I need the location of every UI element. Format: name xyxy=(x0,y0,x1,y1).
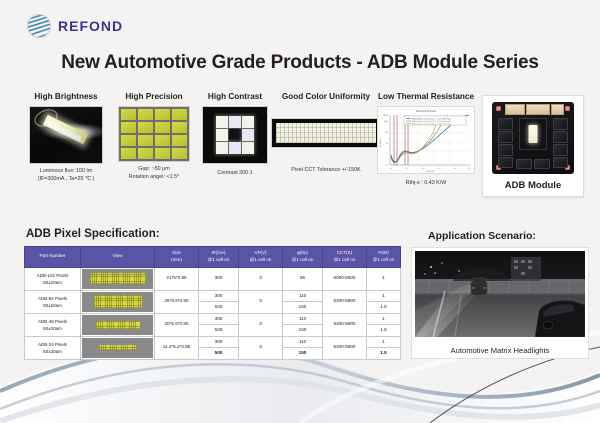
feature-heading: High Precision xyxy=(106,92,202,101)
cell-view xyxy=(81,290,155,313)
cell-view xyxy=(81,313,155,336)
adb-module-card: ADB Module xyxy=(482,95,584,197)
brand-logo: REFOND xyxy=(26,13,123,39)
spec-section-heading: ADB Pixel Specification: xyxy=(26,228,160,240)
cell-size: 11.4*5.2*0.85 xyxy=(155,336,199,359)
cell-if: 500 xyxy=(199,325,239,337)
application-card: Automotive Matrix Headlights xyxy=(411,247,589,359)
cell-flux: 85 xyxy=(283,267,323,290)
cell-part-number: ADB-84 Pixels 50±20am xyxy=(25,290,81,313)
cell-if: 300 xyxy=(199,267,239,290)
svg-text:0.4: 0.4 xyxy=(454,168,457,170)
cell-flux: 110 xyxy=(283,313,323,325)
svg-text:0.1: 0.1 xyxy=(406,168,409,170)
table-row: ADB-102 Pixels 50±20am 21*5*0.85 300 3 8… xyxy=(25,267,401,290)
application-caption: Automotive Matrix Headlights xyxy=(412,346,588,355)
svg-text:10: 10 xyxy=(386,143,388,145)
pixel-array-84 xyxy=(82,292,153,312)
feature-low-thermal-resistance: Low Thermal Resistance Structure functio… xyxy=(366,92,486,188)
svg-text:10000: 10000 xyxy=(383,115,388,117)
svg-text:0: 0 xyxy=(391,168,392,170)
cell-power: 1.5 xyxy=(367,348,401,360)
pixel-array-24 xyxy=(82,338,153,358)
svg-text:1: 1 xyxy=(387,154,388,156)
col-flux: φ(lm) @1 cell on xyxy=(283,247,323,268)
table-row: ADB-48 Pixels 50±20am 20*5.6*0.85 300 3 … xyxy=(25,313,401,325)
col-cct: CCT(K) @1 cell on xyxy=(323,247,367,268)
cell-if: 300 xyxy=(199,336,239,348)
feature-high-precision: High Precision Gap: ~50 μm Rotation ange… xyxy=(106,92,202,182)
cell-power: 1.5 xyxy=(367,302,401,314)
cell-flux: 150 xyxy=(283,302,323,314)
cell-view xyxy=(81,336,155,359)
feature-row: High Brightness Luminous flux: 100 lm (I… xyxy=(18,92,470,204)
cell-if: 500 xyxy=(199,302,239,314)
svg-text:Cth [Ws/K]: Cth [Ws/K] xyxy=(379,138,382,147)
cell-size: 21*5*0.85 xyxy=(155,267,199,290)
cell-power: 1 xyxy=(367,267,401,290)
col-vf: VF(V) @1 cell on xyxy=(239,247,283,268)
col-part-number: Part Number xyxy=(25,247,81,268)
table-row: ADB-84 Pixels 50±20am 26*9.6*0.85 300 3 … xyxy=(25,290,401,302)
phosphor-grid-photo xyxy=(106,106,202,162)
page-title: New Automotive Grade Products - ADB Modu… xyxy=(0,52,600,74)
cell-size: 26*9.6*0.85 xyxy=(155,290,199,313)
cell-size: 20*5.6*0.85 xyxy=(155,313,199,336)
cell-if: 500 xyxy=(199,348,239,360)
cell-vf: 3 xyxy=(239,336,283,359)
feature-high-brightness: High Brightness Luminous flux: 100 lm (I… xyxy=(18,92,114,184)
cell-vf: 3 xyxy=(239,290,283,313)
cell-flux: 110 xyxy=(283,290,323,302)
cell-cct: 5200-5800 xyxy=(323,313,367,336)
cell-if: 300 xyxy=(199,313,239,325)
svg-text:0.3: 0.3 xyxy=(438,168,441,170)
svg-text:1000: 1000 xyxy=(384,121,388,123)
table-row: ADB-24 Pixels 50±20am 11.4*5.2*0.85 300 … xyxy=(25,336,401,348)
brand-name: REFOND xyxy=(58,18,123,34)
adb-pixel-spec-table: Part Number View Size (mm) IF(mA) @1 cel… xyxy=(24,246,401,360)
col-view: View xyxy=(81,247,155,268)
feature-caption: Luminous flux: 100 lm (IF=300mA , Ta=25 … xyxy=(18,168,114,184)
col-if: IF(mA) @1 cell on xyxy=(199,247,239,268)
col-size: Size (mm) xyxy=(155,247,199,268)
slide-root: REFOND New Automotive Grade Products - A… xyxy=(0,0,600,423)
svg-text:Rth [K/W]: Rth [K/W] xyxy=(426,170,434,173)
svg-text:100: 100 xyxy=(385,132,388,134)
svg-text:ADB Module @ Tboard 85 C - Ch3: ADB Module @ Tboard 85 C - Ch3 Different… xyxy=(412,122,451,125)
svg-text:0.5: 0.5 xyxy=(468,168,471,170)
table-header-row: Part Number View Size (mm) IF(mA) @1 cel… xyxy=(25,247,401,268)
cell-vf: 3 xyxy=(239,313,283,336)
cell-cct: 5200-5800 xyxy=(323,290,367,313)
feature-caption: Rthj-s : 0.43 K/W xyxy=(366,180,486,188)
night-road-matrix-beam-photo xyxy=(415,251,585,337)
cell-part-number: ADB-102 Pixels 50±20am xyxy=(25,267,81,290)
cell-part-number: ADB-48 Pixels 50±20am xyxy=(25,313,81,336)
led-beam-photo xyxy=(18,106,114,164)
feature-heading: Low Thermal Resistance xyxy=(366,92,486,101)
cell-view xyxy=(81,267,155,290)
cell-power: 1.5 xyxy=(367,325,401,337)
cell-vf: 3 xyxy=(239,267,283,290)
feature-heading: High Brightness xyxy=(18,92,114,101)
cell-flux: 150 xyxy=(283,325,323,337)
cell-if: 300 xyxy=(199,290,239,302)
cell-power: 1 xyxy=(367,290,401,302)
cell-flux: 150 xyxy=(283,348,323,360)
thermal-structure-function-chart: Structure function xyxy=(366,106,486,174)
adb-module-pcb-photo xyxy=(492,102,574,174)
pixel-array-48 xyxy=(82,315,153,335)
cell-part-number: ADB-24 Pixels 50±20am xyxy=(25,336,81,359)
cell-power: 1 xyxy=(367,313,401,325)
cell-cct: 6000-6500 xyxy=(323,267,367,290)
cell-flux: 110 xyxy=(283,336,323,348)
pixel-array-102 xyxy=(82,269,153,289)
refond-globe-icon xyxy=(26,13,52,39)
cell-cct: 5200-5800 xyxy=(323,336,367,359)
cell-power: 1 xyxy=(367,336,401,348)
adb-module-label: ADB Module xyxy=(483,180,583,191)
feature-caption: Gap: ~50 μm Rotation angel: <1.5° xyxy=(106,166,202,182)
svg-text:Structure function: Structure function xyxy=(416,109,437,113)
svg-text:0.1: 0.1 xyxy=(386,165,389,167)
svg-text:0.2: 0.2 xyxy=(422,168,425,170)
application-section-heading: Application Scenario: xyxy=(428,230,536,242)
col-power: P(W) @1 cell on xyxy=(367,247,401,268)
